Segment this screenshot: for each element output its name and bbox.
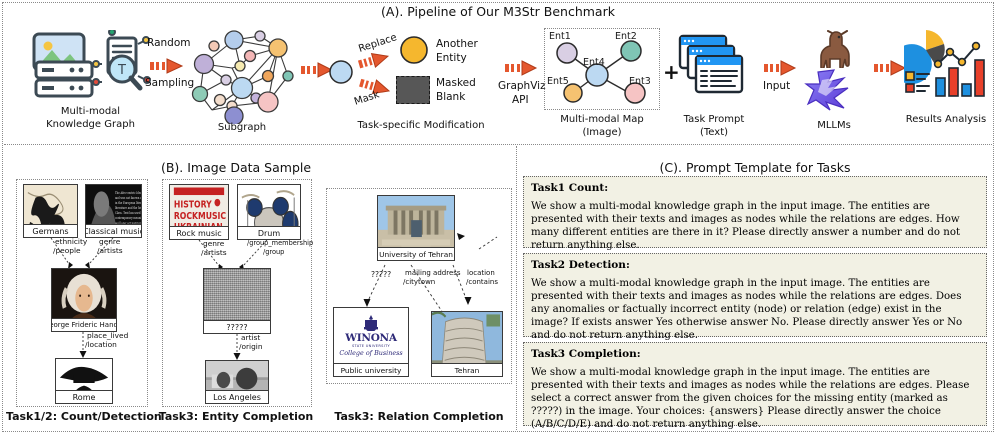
modification-source-node [328,59,354,89]
node-label-tehran: Tehran [432,363,502,376]
rel-genre-entity-line2: /artists [201,249,227,258]
label-random: Random [147,37,190,49]
label-graphviz-line2: API [512,94,529,106]
subgraph-caption: Subgraph [190,122,294,135]
rel-ethnicity-line2: /people [53,247,81,256]
rel-artist-origin-line2: /origin [239,343,263,352]
map-node-label-ent1: Ent1 [549,31,571,42]
winona-crest-icon [361,315,381,331]
svg-text:contemporary meaning, art: contemporary meaning, art [115,216,141,221]
rel-missing-relation: ????? [371,271,391,280]
node-label-public-university: Public university [334,363,408,376]
node-rome: Rome [55,358,113,404]
modification-caption: Task-specific Modification [326,120,516,133]
winona-logo-college: College of Business [339,349,402,357]
rel-mailing-address-line2: /citytown [403,278,435,286]
prompt-task2-body: We show a multi-modal knowledge graph in… [531,277,979,342]
multimodal-map-box: Ent1 Ent2 Ent3 Ent4 Ent5 [544,28,660,110]
map-caption-line2: (Image) [536,127,668,140]
task-prompt-caption-line2: (Text) [668,127,760,140]
svg-text:Class. Text has used the: Class. Text has used the [115,211,141,216]
rel-location-contains-line2: /contains [466,278,498,286]
node-los-angeles: Los Angeles [205,360,269,404]
node-germans: Germans [23,184,78,238]
sample-task12-box: Germans The Afro-centric Idea Europe and… [16,179,148,407]
prompt-task1-head: Task1 Count: [531,182,979,194]
prompt-box-task1: Task1 Count: We show a multi-modal knowl… [523,176,987,248]
mllms-caption: MLLMs [796,120,872,133]
edges-task12-bottom [17,330,149,360]
map-node-label-ent5: Ent5 [547,76,569,87]
rel-group-membership-line1: /group_membership [247,240,313,248]
prompt-task3-head: Task3 Completion: [531,348,979,360]
section-b-title: (B). Image Data Sample [6,160,466,175]
winona-logo-sub: STATE UNIVERSITY [352,344,390,348]
map-node-label-ent2: Ent2 [615,31,637,42]
masked-noise-thumb [204,269,270,320]
label-graphviz-line1: GraphViz [498,80,546,92]
map-node-label-ent4: Ent4 [583,57,605,68]
task-prompt-icon [678,34,748,102]
divider-b-c [516,146,517,430]
rel-mailing-address-line1: mailing address [405,269,461,277]
mkg-caption-line2: Knowledge Graph [18,119,163,132]
arrow-graphviz [503,58,539,82]
prompt-task3-body: We show a multi-modal knowledge graph in… [531,366,979,431]
svg-text:HISTORY: HISTORY [174,200,212,211]
mkg-caption-line1: Multi-modal [28,106,153,119]
node-masked-entity: ????? [203,268,271,334]
sample-task3-relation-box: University of Tehran ????? mailing addre… [326,188,512,384]
another-entity-label-line1: Another [436,38,478,50]
section-c-prompt-templates: (C). Prompt Template for Tasks Task1 Cou… [520,160,990,428]
another-entity-node [398,34,430,70]
llama-icon [806,30,862,68]
prompt-task1-body: We show a multi-modal knowledge graph in… [531,200,979,252]
node-classical-music: The Afro-centric Idea Europe and was not… [85,184,142,238]
masked-blank-node [396,76,430,104]
svg-text:The Afro-centric Idea Europe: The Afro-centric Idea Europe [115,191,141,196]
prompt-task2-head: Task2 Detection: [531,259,979,271]
sample-task3-relation-caption: Task3: Relation Completion [324,410,514,424]
node-label-los-angeles: Los Angeles [206,390,268,403]
results-analysis-icon [904,30,990,106]
node-tehran: Tehran [431,311,503,377]
rel-genre-line2: /artists [97,247,123,256]
svg-text:T: T [117,63,126,78]
sample-task3-entity-box: HISTORY ROCKMUSIC UKRAINIAN Rock music D… [162,179,312,407]
node-handel: George Frideric Handel [51,268,117,332]
sample-task12-caption: Task1/2: Count/Detection [6,410,158,424]
node-rock-music: HISTORY ROCKMUSIC UKRAINIAN Rock music [169,184,229,240]
mkg-icon: T [28,30,153,102]
rel-location-contains-line1: location [467,269,495,277]
another-entity-label-line2: Entity [436,52,467,64]
arrow-input [762,58,798,82]
subgraph-graphic [190,30,294,124]
edges-task3-entity-bottom [163,332,313,362]
node-label-rome: Rome [56,390,112,403]
masked-blank-label-line1: Masked [436,77,476,89]
winona-logo-name: WINONA [345,332,396,344]
divider-a-b [4,144,992,145]
section-a-title: (A). Pipeline of Our M3Str Benchmark [6,4,990,19]
svg-text:in the European literary field: in the European literary field [115,201,141,206]
svg-text:ROCKMUSIC: ROCKMUSIC [174,211,226,222]
gemini-icon [804,68,862,112]
section-a-pipeline: (A). Pipeline of Our M3Str Benchmark T [6,4,990,142]
svg-text:and was not known any text: and was not known any text [115,196,141,201]
rel-place-lived-line2: /location [85,341,117,350]
map-caption-line1: Multi-modal Map [536,114,668,127]
results-analysis-caption: Results Analysis [896,114,996,127]
svg-text:literature and the history of: literature and the history of [115,206,141,211]
task-prompt-caption-line1: Task Prompt [668,114,760,127]
masked-blank-label-line2: Blank [436,91,465,103]
arrow-to-results [872,58,908,82]
section-c-title: (C). Prompt Template for Tasks [520,160,990,175]
prompt-box-task2: Task2 Detection: We show a multi-modal k… [523,253,987,337]
node-drum: Drum [237,184,301,240]
sample-task3-entity-caption: Task3: Entity Completion [156,410,316,424]
rel-group-membership-line2: /group [263,249,284,257]
node-public-university: WINONA STATE UNIVERSITY College of Busin… [333,307,409,377]
section-b-image-samples: (B). Image Data Sample Germans The Afro-… [6,160,514,428]
label-sampling: Sampling [145,77,194,89]
prompt-box-task3: Task3 Completion: We show a multi-modal … [523,342,987,426]
label-input: Input [763,80,790,92]
map-node-label-ent3: Ent3 [629,76,651,87]
